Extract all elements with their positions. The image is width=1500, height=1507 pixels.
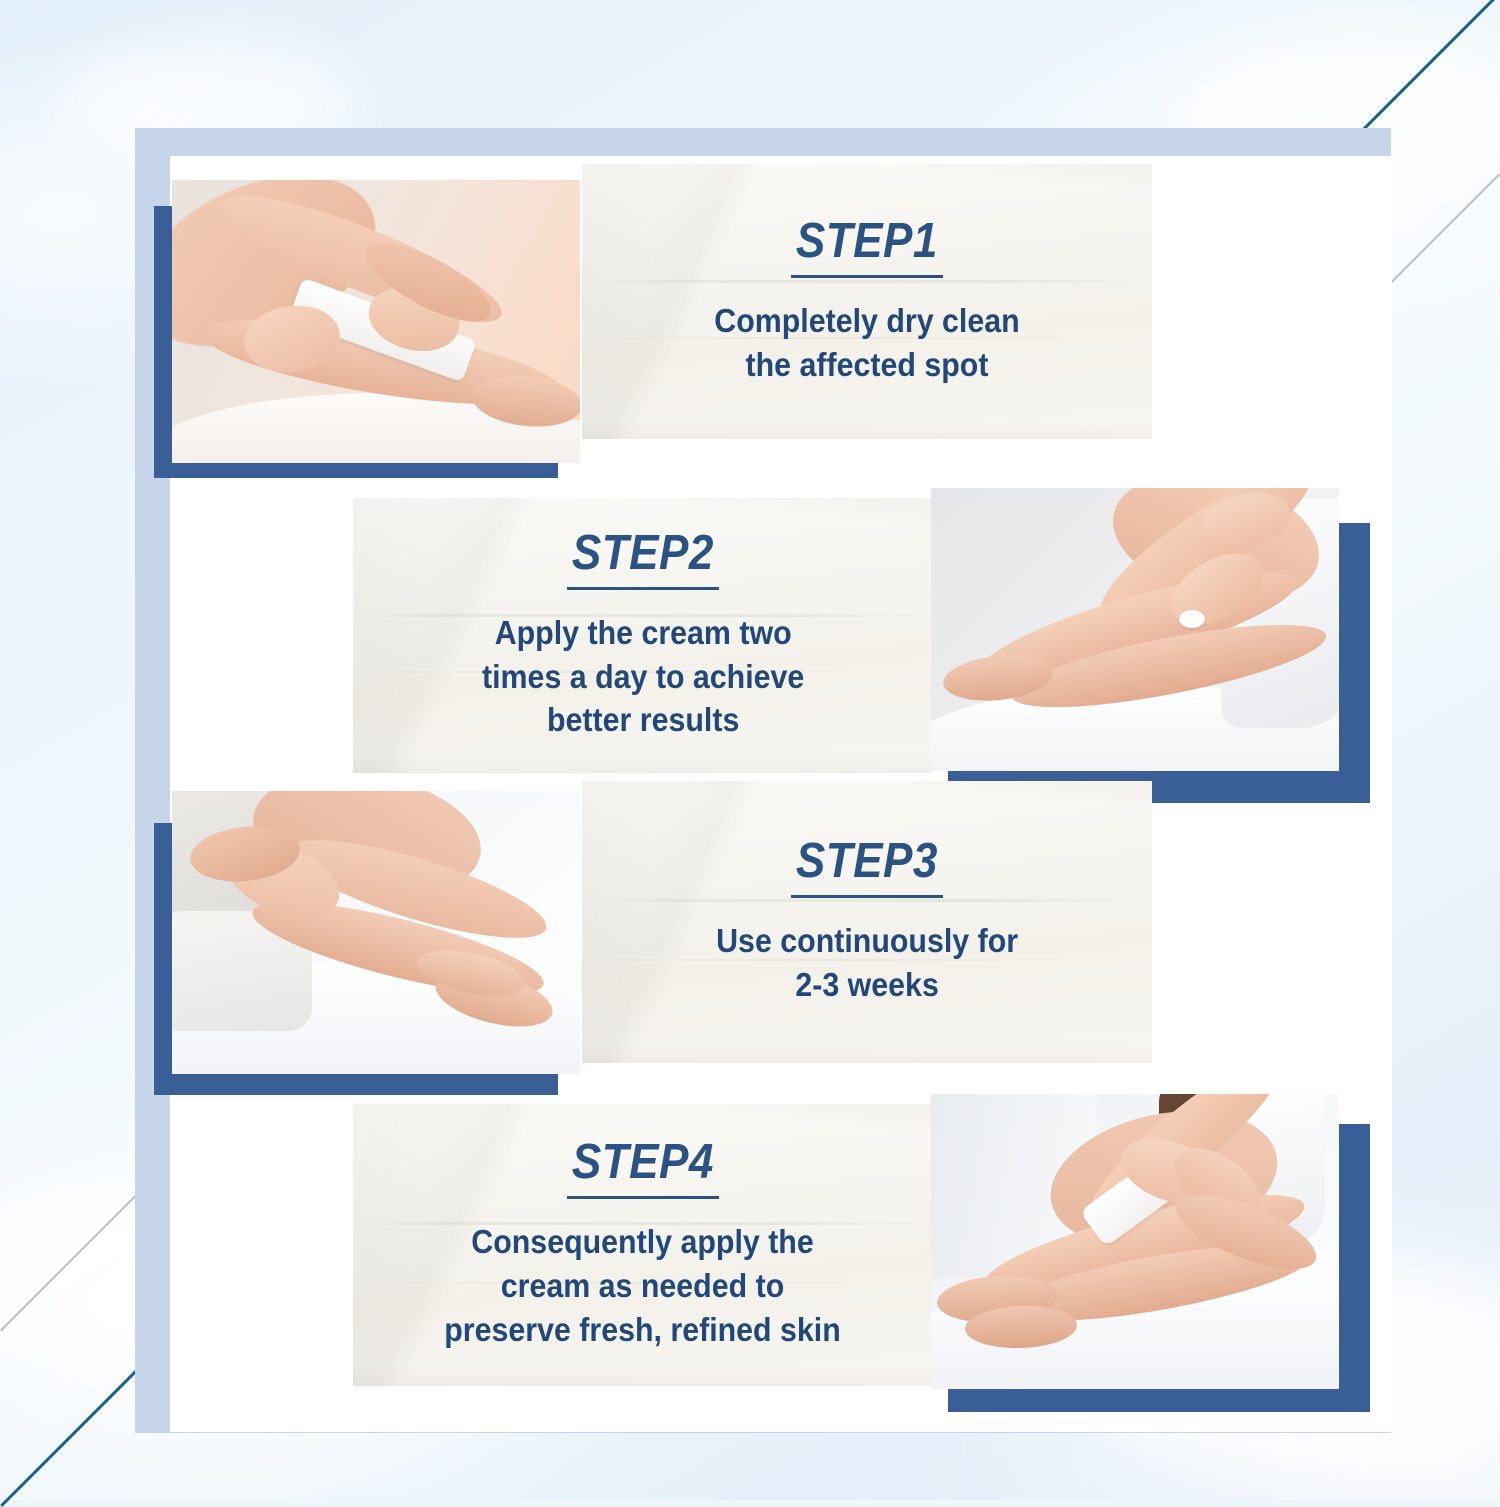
step-body-1: Completely dry clean the affected spot [714, 299, 1019, 387]
step-row-4: STEP4 Consequently apply the cream as ne… [170, 1096, 1392, 1432]
step-row-3: STEP3 Use continuously for 2-3 weeks [170, 781, 1392, 1101]
step-body-line: Completely dry clean [714, 299, 1019, 343]
step-body-line: Apply the cream two [482, 611, 804, 655]
step-body-3: Use continuously for 2-3 weeks [716, 919, 1018, 1007]
step-heading-rule-2 [567, 587, 719, 590]
step-photo-2 [931, 488, 1339, 771]
step-heading-4: STEP4 [572, 1138, 714, 1187]
step-body-line: Consequently apply the [445, 1220, 842, 1264]
step-text-panel-1: STEP1 Completely dry clean the affected … [582, 164, 1152, 439]
step-body-line: the affected spot [714, 343, 1019, 387]
step-body-line: cream as needed to [445, 1264, 842, 1308]
content-card: STEP1 Completely dry clean the affected … [170, 156, 1392, 1432]
step-body-line: better results [482, 698, 804, 742]
step-photo-3 [172, 791, 580, 1074]
step-heading-1: STEP1 [796, 217, 938, 266]
step-heading-rule-4 [567, 1196, 719, 1199]
step-heading-rule-1 [791, 275, 943, 278]
step-heading-3: STEP3 [796, 837, 938, 886]
step-heading-rule-3 [791, 895, 943, 898]
step-text-panel-4: STEP4 Consequently apply the cream as ne… [353, 1104, 933, 1386]
step-row-2: STEP2 Apply the cream two times a day to… [170, 486, 1392, 786]
step-text-panel-2: STEP2 Apply the cream two times a day to… [353, 498, 933, 773]
step-heading-2: STEP2 [572, 529, 714, 578]
step-body-line: times a day to achieve [482, 655, 804, 699]
step-body-line: Use continuously for [716, 919, 1018, 963]
step-body-line: 2-3 weeks [716, 963, 1018, 1007]
step-body-line: preserve fresh, refined skin [445, 1308, 842, 1352]
step-row-1: STEP1 Completely dry clean the affected … [170, 156, 1392, 486]
step-photo-1 [172, 180, 580, 463]
step-body-2: Apply the cream two times a day to achie… [482, 611, 804, 743]
step-photo-4 [931, 1094, 1339, 1389]
step-body-4: Consequently apply the cream as needed t… [445, 1220, 842, 1352]
step-text-panel-3: STEP3 Use continuously for 2-3 weeks [582, 781, 1152, 1063]
